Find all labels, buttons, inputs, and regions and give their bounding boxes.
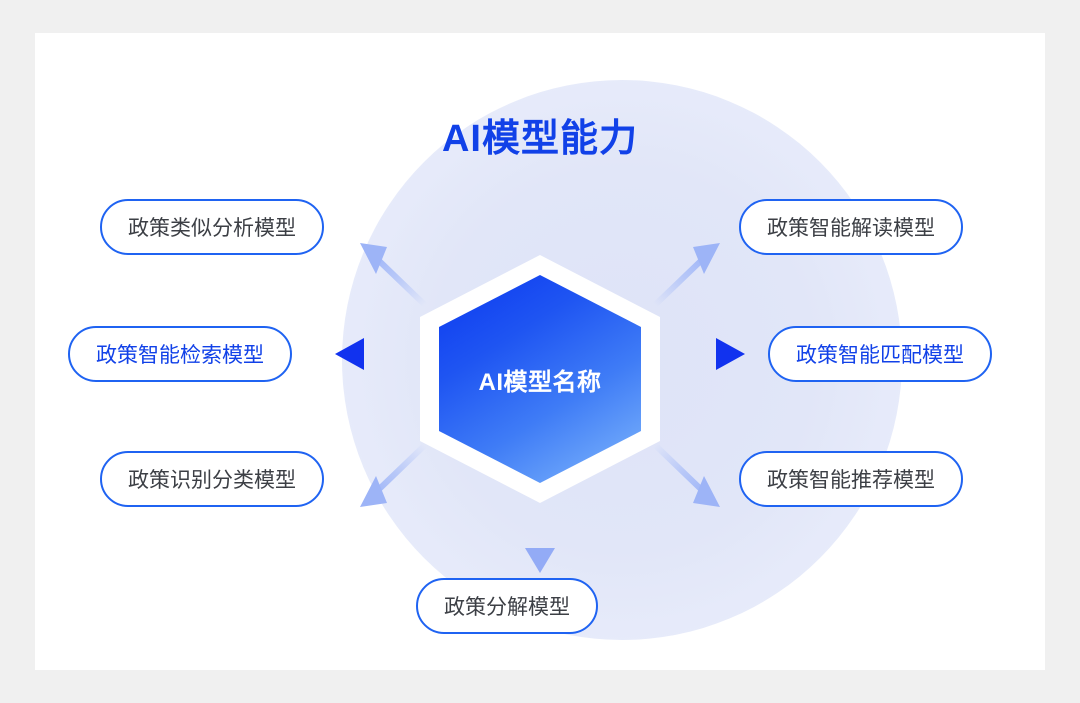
center-hexagon-label: AI模型名称 — [479, 362, 602, 397]
diagram-card: AI模型能力 AI模型名称 政策类似分析模型 政策智能检索模型 政策识别分类模型… — [35, 33, 1045, 670]
node-bottom-right[interactable]: 政策智能推荐模型 — [739, 451, 963, 507]
arrow-horizontal-right — [675, 338, 745, 370]
node-label: 政策类似分析模型 — [128, 212, 296, 242]
node-label: 政策分解模型 — [444, 591, 570, 621]
node-label: 政策智能推荐模型 — [767, 464, 935, 494]
node-bottom[interactable]: 政策分解模型 — [416, 578, 598, 634]
arrow-horizontal-left — [335, 338, 405, 370]
arrow-diagonal-down-right — [655, 445, 720, 507]
node-top-right[interactable]: 政策智能解读模型 — [739, 199, 963, 255]
node-label: 政策智能检索模型 — [96, 339, 264, 369]
center-hexagon[interactable]: AI模型名称 — [420, 255, 660, 503]
node-label: 政策智能解读模型 — [767, 212, 935, 242]
diagram-title: AI模型能力 — [35, 120, 1045, 158]
node-label: 政策识别分类模型 — [128, 464, 296, 494]
arrow-vertical-down — [525, 515, 555, 573]
node-bottom-left[interactable]: 政策识别分类模型 — [100, 451, 324, 507]
arrow-diagonal-up-left — [360, 243, 425, 305]
node-label: 政策智能匹配模型 — [796, 339, 964, 369]
arrow-diagonal-up-right — [655, 243, 720, 305]
node-middle-left[interactable]: 政策智能检索模型 — [68, 326, 292, 382]
node-top-left[interactable]: 政策类似分析模型 — [100, 199, 324, 255]
node-middle-right[interactable]: 政策智能匹配模型 — [768, 326, 992, 382]
arrow-diagonal-down-left — [360, 445, 425, 507]
